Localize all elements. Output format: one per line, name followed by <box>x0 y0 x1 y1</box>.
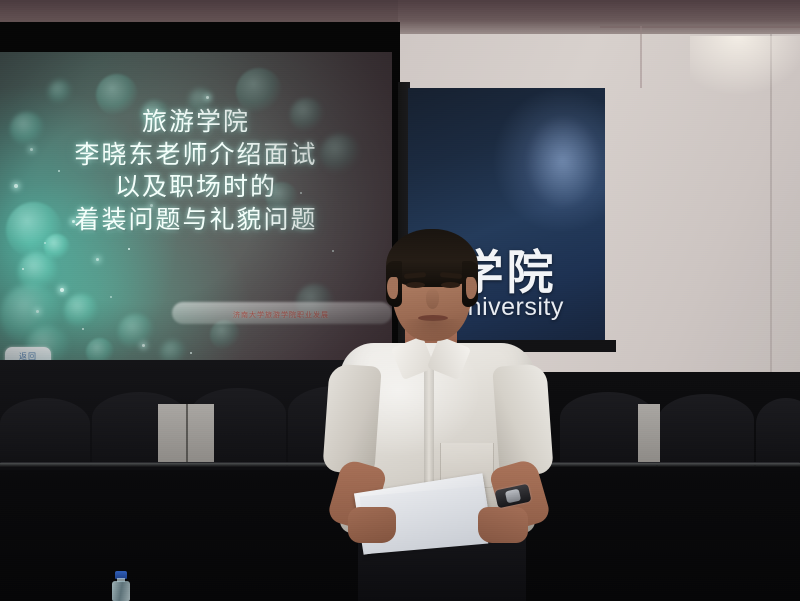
ceiling-light-glow <box>690 36 800 96</box>
eye-right <box>441 282 460 288</box>
bottle-body <box>112 581 130 601</box>
slide-line-2: 李晓东老师介绍面试 <box>0 139 392 172</box>
sparkle-dot <box>110 296 112 298</box>
sparkle-dot <box>190 352 192 354</box>
wall-seam-left <box>640 26 642 88</box>
ear-left <box>387 277 398 299</box>
right-sleeve <box>492 363 554 476</box>
bokeh-circle <box>210 320 240 350</box>
chair-back <box>756 398 800 466</box>
bokeh-circle <box>64 294 98 328</box>
wall-panel-right <box>638 404 660 462</box>
sparkle-dot <box>206 96 209 99</box>
nose <box>426 289 439 309</box>
speaker-figure <box>300 215 610 601</box>
bokeh-circle <box>44 234 70 260</box>
sparkle-dot <box>96 258 99 261</box>
chin-shadow <box>404 319 462 339</box>
ceiling-seam <box>600 26 800 28</box>
water-bottle <box>111 571 131 601</box>
chair-back <box>0 398 90 466</box>
bokeh-circle <box>118 314 154 350</box>
bokeh-circle <box>48 80 72 104</box>
sparkle-dot <box>22 268 24 270</box>
slide-line-1: 旅游学院 <box>0 106 392 139</box>
sparkle-dot <box>44 242 46 244</box>
upper-wall-band <box>398 0 800 34</box>
bokeh-circle <box>0 284 62 346</box>
banner-sheen <box>526 116 600 208</box>
bokeh-circle <box>18 252 58 292</box>
sparkle-dot <box>60 288 64 292</box>
sparkle-dot <box>128 248 130 250</box>
photograph-canvas: 旅游学院 李晓东老师介绍面试 以及职场时的 着装问题与礼貌问题 济南大学旅游学院… <box>0 0 800 601</box>
sparkle-dot <box>36 310 39 313</box>
wall-panel-divider-left <box>186 404 188 462</box>
hand-right <box>478 507 528 543</box>
slide-line-3: 以及职场时的 <box>0 171 392 204</box>
chair-back <box>658 394 754 466</box>
hand-left <box>348 507 396 543</box>
sparkle-dot <box>82 328 84 330</box>
eye-left <box>406 282 425 288</box>
left-sleeve <box>322 363 381 474</box>
sparkle-dot <box>142 344 145 347</box>
